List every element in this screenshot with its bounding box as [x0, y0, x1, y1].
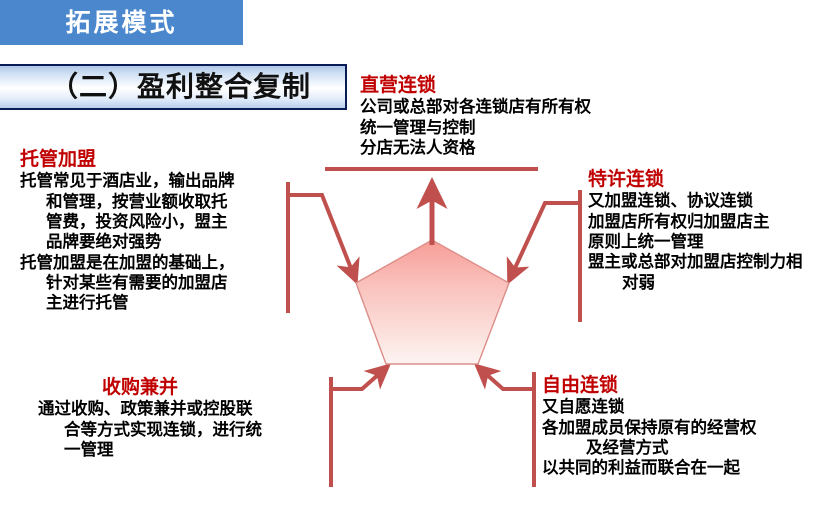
node-trusteeship-franchise-line-3: 管费，投资风险小，盟主	[20, 212, 235, 232]
node-acquisition-merger-line-1: 通过收购、政策兼并或控股联	[38, 399, 262, 419]
node-franchise-chain-line-3: 原则上统一管理	[588, 232, 803, 252]
node-acquisition-merger-line-3: 一管理	[38, 440, 262, 460]
acquisition-connector	[331, 366, 388, 389]
node-acquisition-merger-line-2: 合等方式实现连锁，进行统	[38, 420, 262, 440]
node-franchise-chain: 特许连锁 又加盟连锁、协议连锁 加盟店所有权归加盟店主 原则上统一管理 盟主或总…	[588, 168, 803, 293]
node-voluntary-chain-line-3: 及经营方式	[542, 438, 757, 458]
node-trusteeship-franchise-line-7: 主进行托管	[20, 293, 235, 313]
node-acquisition-merger: 收购兼并 通过收购、政策兼并或控股联 合等方式实现连锁，进行统 一管理	[38, 376, 262, 460]
trust-connector	[288, 195, 356, 281]
node-acquisition-merger-title: 收购兼并	[38, 376, 262, 398]
section-tab: 拓展模式	[0, 0, 243, 45]
section-tab-label: 拓展模式	[65, 10, 177, 35]
node-voluntary-chain-line-1: 又自愿连锁	[542, 397, 757, 417]
node-trusteeship-franchise-title: 托管加盟	[20, 148, 235, 170]
voluntary-connector	[477, 366, 534, 389]
node-voluntary-chain-title: 自由连锁	[542, 374, 757, 396]
node-direct-chain: 直营连锁 公司或总部对各连锁店有所有权 统一管理与控制 分店无法人资格	[360, 74, 591, 158]
node-trusteeship-franchise-line-6: 针对某些有需要的加盟店	[20, 273, 235, 293]
node-voluntary-chain-line-2: 各加盟成员保持原有的经营权	[542, 418, 757, 438]
node-franchise-chain-line-1: 又加盟连锁、协议连锁	[588, 191, 803, 211]
node-trusteeship-franchise: 托管加盟 托管常见于酒店业，输出品牌 和管理，按营业额收取托 管费，投资风险小，…	[20, 148, 235, 313]
page-title: （二）盈利整合复制	[34, 73, 311, 101]
node-voluntary-chain: 自由连锁 又自愿连锁 各加盟成员保持原有的经营权 及经营方式 以共同的利益而联合…	[542, 374, 757, 479]
franchise-connector	[509, 203, 580, 281]
node-direct-chain-line-1: 公司或总部对各连锁店有所有权	[360, 97, 591, 117]
node-franchise-chain-line-4: 盟主或总部对加盟店控制力相	[588, 252, 803, 272]
node-direct-chain-line-3: 分店无法人资格	[360, 138, 591, 158]
node-trusteeship-franchise-line-4: 品牌要绝对强势	[20, 232, 235, 252]
node-franchise-chain-line-2: 加盟店所有权归加盟店主	[588, 212, 803, 232]
node-trusteeship-franchise-line-2: 和管理，按营业额收取托	[20, 192, 235, 212]
node-voluntary-chain-line-4: 以共同的利益而联合在一起	[542, 458, 757, 478]
node-trusteeship-franchise-line-5: 托管加盟是在加盟的基础上，	[20, 253, 235, 273]
node-franchise-chain-line-5: 对弱	[588, 273, 803, 293]
slide-heading-bar: （二）盈利整合复制	[0, 64, 347, 110]
node-franchise-chain-title: 特许连锁	[588, 168, 803, 190]
node-direct-chain-line-2: 统一管理与控制	[360, 118, 591, 138]
node-trusteeship-franchise-line-1: 托管常见于酒店业，输出品牌	[20, 171, 235, 191]
center-pentagon	[356, 240, 509, 364]
node-direct-chain-title: 直营连锁	[360, 74, 591, 96]
